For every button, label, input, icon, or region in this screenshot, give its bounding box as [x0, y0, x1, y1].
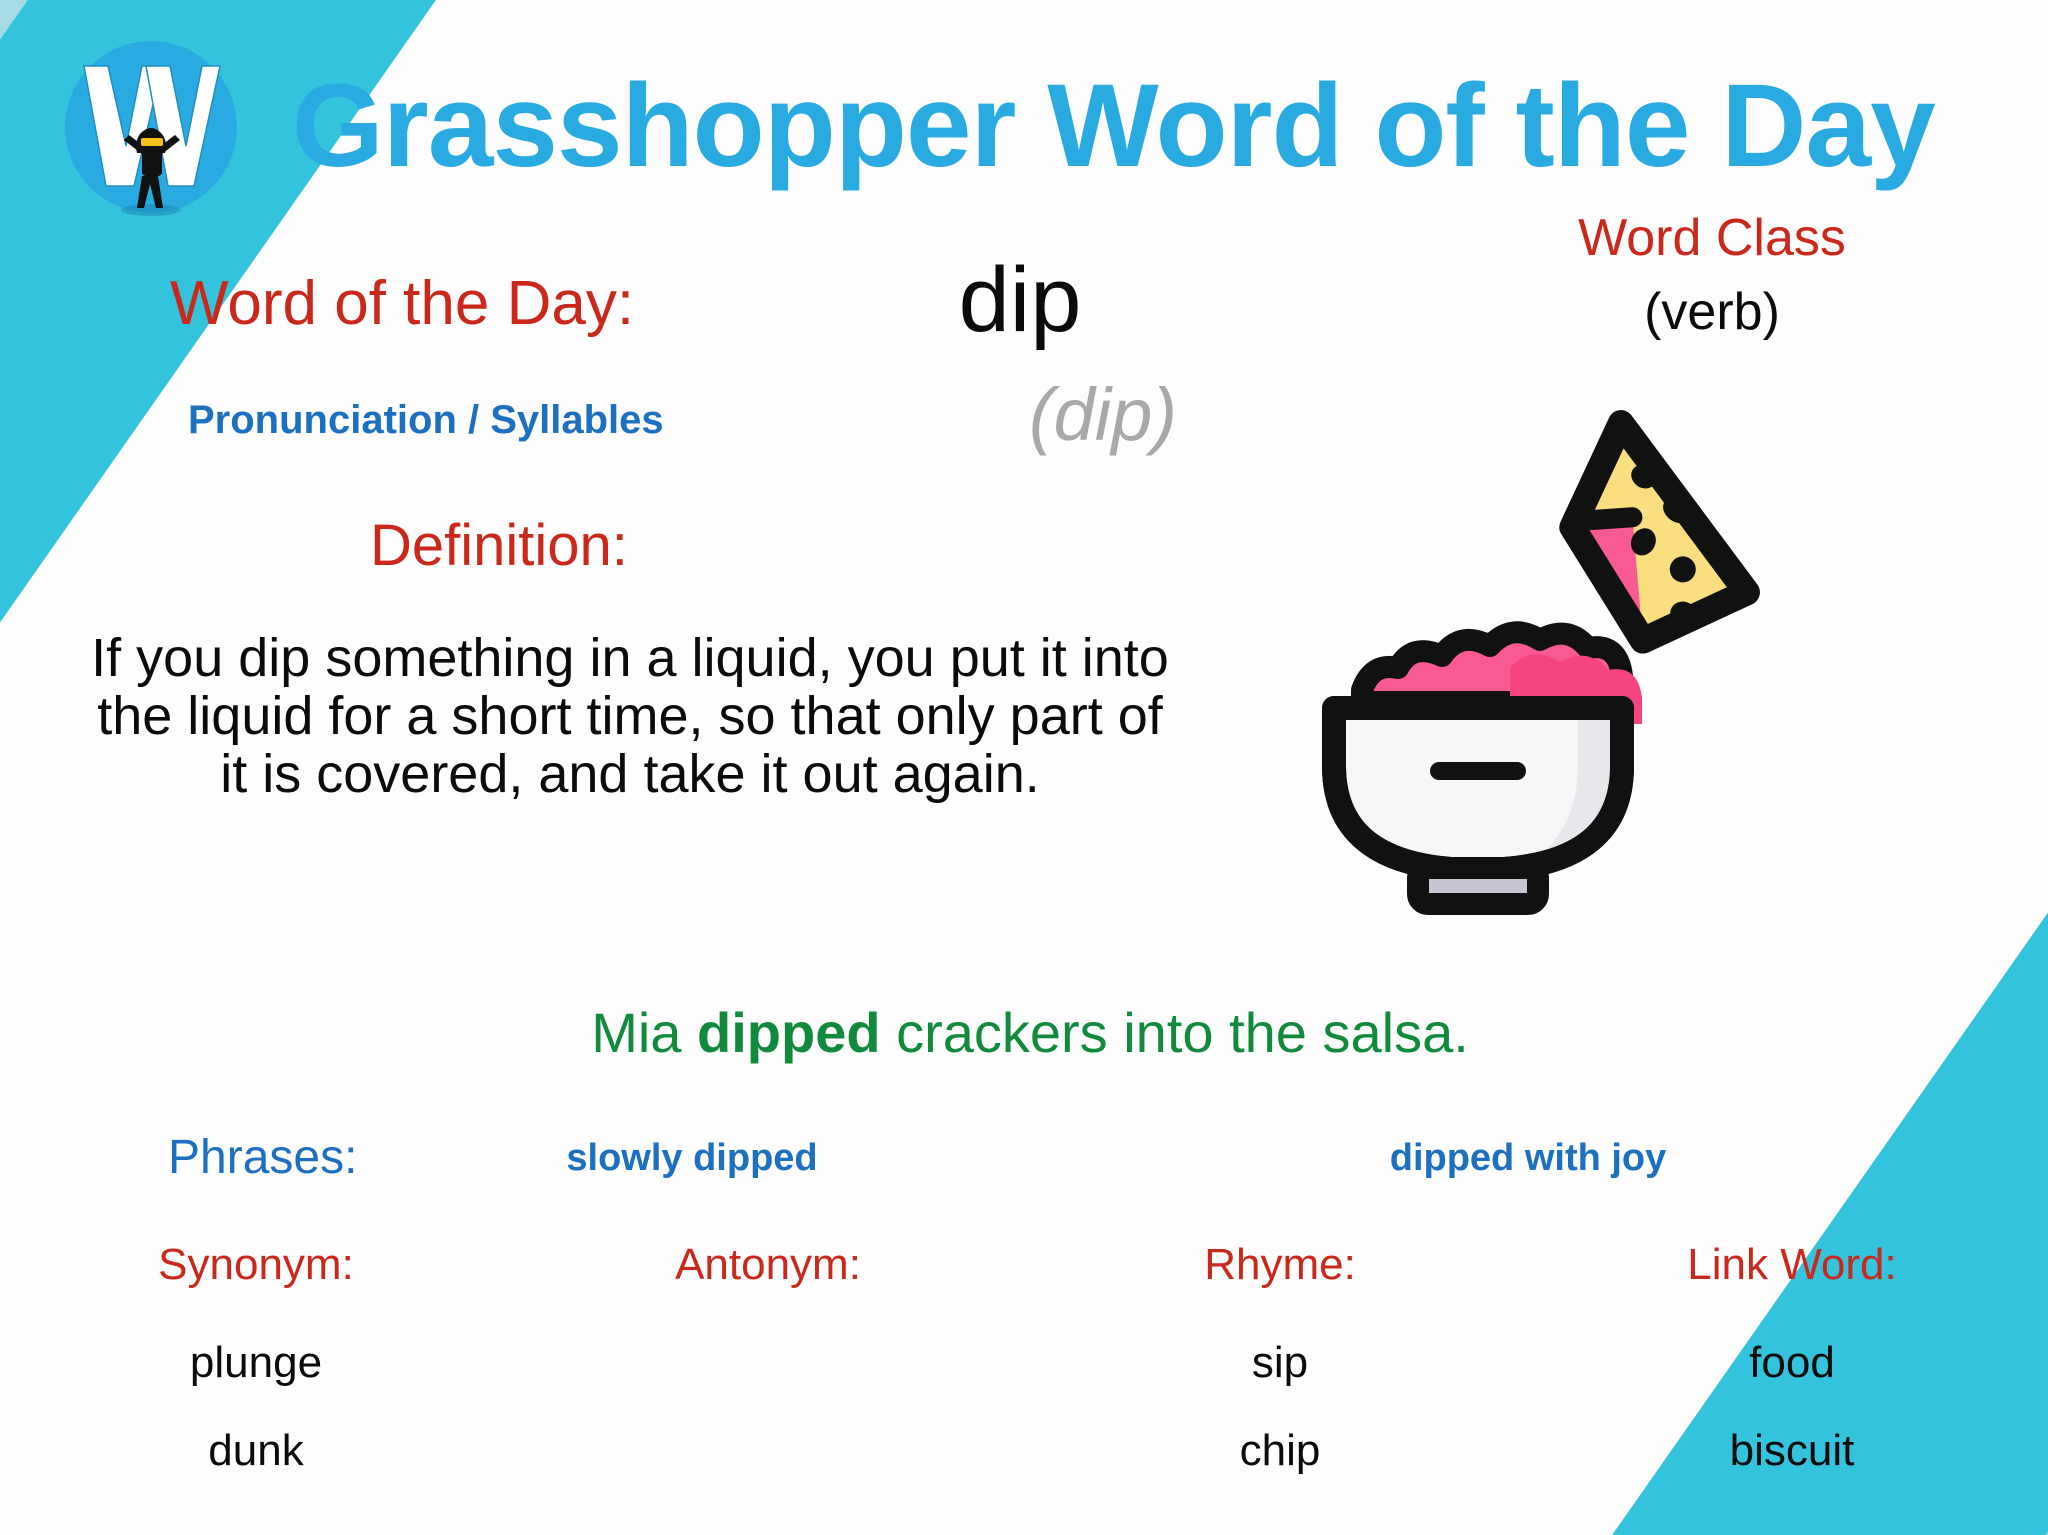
column-rhyme: Rhyme: sip chip — [1024, 1240, 1536, 1476]
antonym-item-1 — [512, 1338, 1024, 1388]
grasshopper-logo-icon — [62, 38, 240, 216]
page-title: Grasshopper Word of the Day — [292, 58, 1935, 194]
column-heading-rhyme: Rhyme: — [1024, 1240, 1536, 1290]
column-synonym: Synonym: plunge dunk — [0, 1240, 512, 1476]
column-antonym: Antonym: — [512, 1240, 1024, 1476]
rhyme-item-1: sip — [1024, 1338, 1536, 1388]
column-heading-synonym: Synonym: — [0, 1240, 512, 1290]
headword-phonetic: (dip) — [1029, 372, 1177, 457]
definition-label: Definition: — [370, 512, 628, 579]
definition-text: If you dip something in a liquid, you pu… — [80, 630, 1180, 803]
example-sentence: Mia dipped crackers into the salsa. — [591, 1000, 1469, 1065]
link-word-item-1: food — [1536, 1338, 2048, 1388]
pronunciation-syllables-label: Pronunciation / Syllables — [188, 398, 664, 443]
word-class-label: Word Class — [1578, 208, 1846, 268]
word-class-value: (verb) — [1644, 282, 1780, 342]
column-link-word: Link Word: food biscuit — [1536, 1240, 2048, 1476]
example-after: crackers into the salsa. — [881, 1001, 1469, 1064]
synonym-item-1: plunge — [0, 1338, 512, 1388]
rhyme-item-2: chip — [1024, 1426, 1536, 1476]
link-word-item-2: biscuit — [1536, 1426, 2048, 1476]
antonym-item-2 — [512, 1426, 1024, 1476]
phrases-label: Phrases: — [168, 1130, 357, 1185]
synonym-item-2: dunk — [0, 1426, 512, 1476]
word-attributes-grid: Synonym: plunge dunk Antonym: Rhyme: sip… — [0, 1240, 2048, 1476]
column-heading-antonym: Antonym: — [512, 1240, 1024, 1290]
phrase-item-1: slowly dipped — [566, 1137, 817, 1180]
headword: dip — [959, 248, 1082, 353]
column-heading-link-word: Link Word: — [1536, 1240, 2048, 1290]
word-of-the-day-label: Word of the Day: — [170, 268, 634, 339]
tortilla-chip-and-salsa-bowl-icon — [1300, 390, 1840, 930]
word-of-the-day-slide: Grasshopper Word of the Day Word of the … — [0, 0, 2048, 1535]
example-bold-word: dipped — [697, 1001, 881, 1064]
phrase-item-2: dipped with joy — [1390, 1137, 1667, 1180]
example-before: Mia — [591, 1001, 697, 1064]
